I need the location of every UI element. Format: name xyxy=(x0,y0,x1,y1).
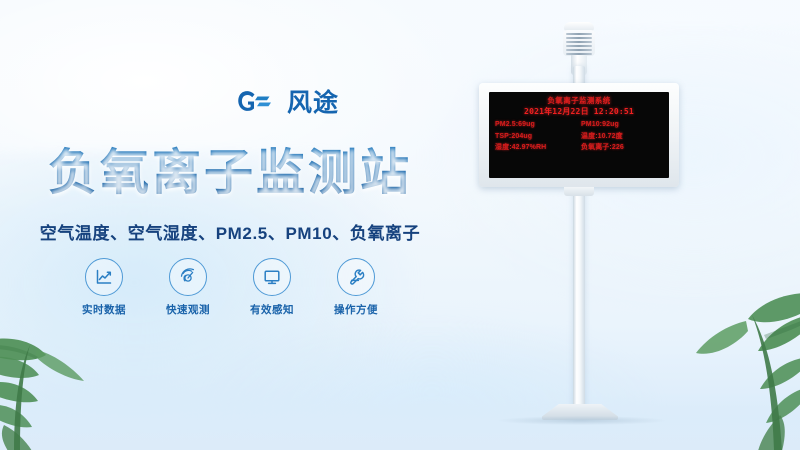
led-display-panel: 负氧离子监测系统 2021年12月22日 12:20:51 PM2.5:69ug… xyxy=(479,83,679,187)
subtitle-parameters: 空气温度、空气湿度、PM2.5、PM10、负氧离子 xyxy=(0,219,460,244)
led-reading-pm10: PM10:92ug xyxy=(581,120,663,131)
brand-name: 风途 xyxy=(287,91,339,116)
feature-item-easy-operation[interactable]: 操作方便 xyxy=(325,258,387,317)
radar-observation-icon xyxy=(169,258,207,296)
feng-tu-logo-icon xyxy=(236,88,280,118)
promo-banner: 风途 负氧离子监测站 空气温度、空气湿度、PM2.5、PM10、负氧离子 实时数… xyxy=(0,0,800,450)
brand-logo: 风途 xyxy=(236,88,339,118)
wrench-tool-icon xyxy=(337,258,375,296)
feature-item-effective-sensing[interactable]: 有效感知 xyxy=(241,258,303,317)
sensor-louvers xyxy=(563,30,595,56)
base-shadow xyxy=(498,416,666,425)
line-chart-icon xyxy=(85,258,123,296)
led-readings-grid: PM2.5:69ug PM10:92ug TSP:204ug 温度:10.72度… xyxy=(495,120,663,155)
feature-label: 快速观测 xyxy=(157,302,219,317)
led-reading-humidity: 湿度:42.97%RH xyxy=(495,143,577,154)
led-title: 负氧离子监测系统 xyxy=(495,96,663,106)
led-reading-temperature: 温度:10.72度 xyxy=(581,132,663,143)
led-reading-negative-ions: 负氧离子:226 xyxy=(581,143,663,154)
feature-item-fast-observation[interactable]: 快速观测 xyxy=(157,258,219,317)
led-reading-tsp: TSP:204ug xyxy=(495,132,577,143)
feature-label: 操作方便 xyxy=(325,302,387,317)
led-reading-pm25: PM2.5:69ug xyxy=(495,120,577,131)
feature-label: 有效感知 xyxy=(241,302,303,317)
led-screen: 负氧离子监测系统 2021年12月22日 12:20:51 PM2.5:69ug… xyxy=(489,92,669,178)
page-title: 负氧离子监测站 xyxy=(0,133,460,204)
screen-stand xyxy=(564,187,594,196)
led-datetime: 2021年12月22日 12:20:51 xyxy=(495,106,663,118)
decorative-plant-right xyxy=(684,275,800,450)
monitor-display-icon xyxy=(253,258,291,296)
decorative-plant-left xyxy=(0,305,124,450)
